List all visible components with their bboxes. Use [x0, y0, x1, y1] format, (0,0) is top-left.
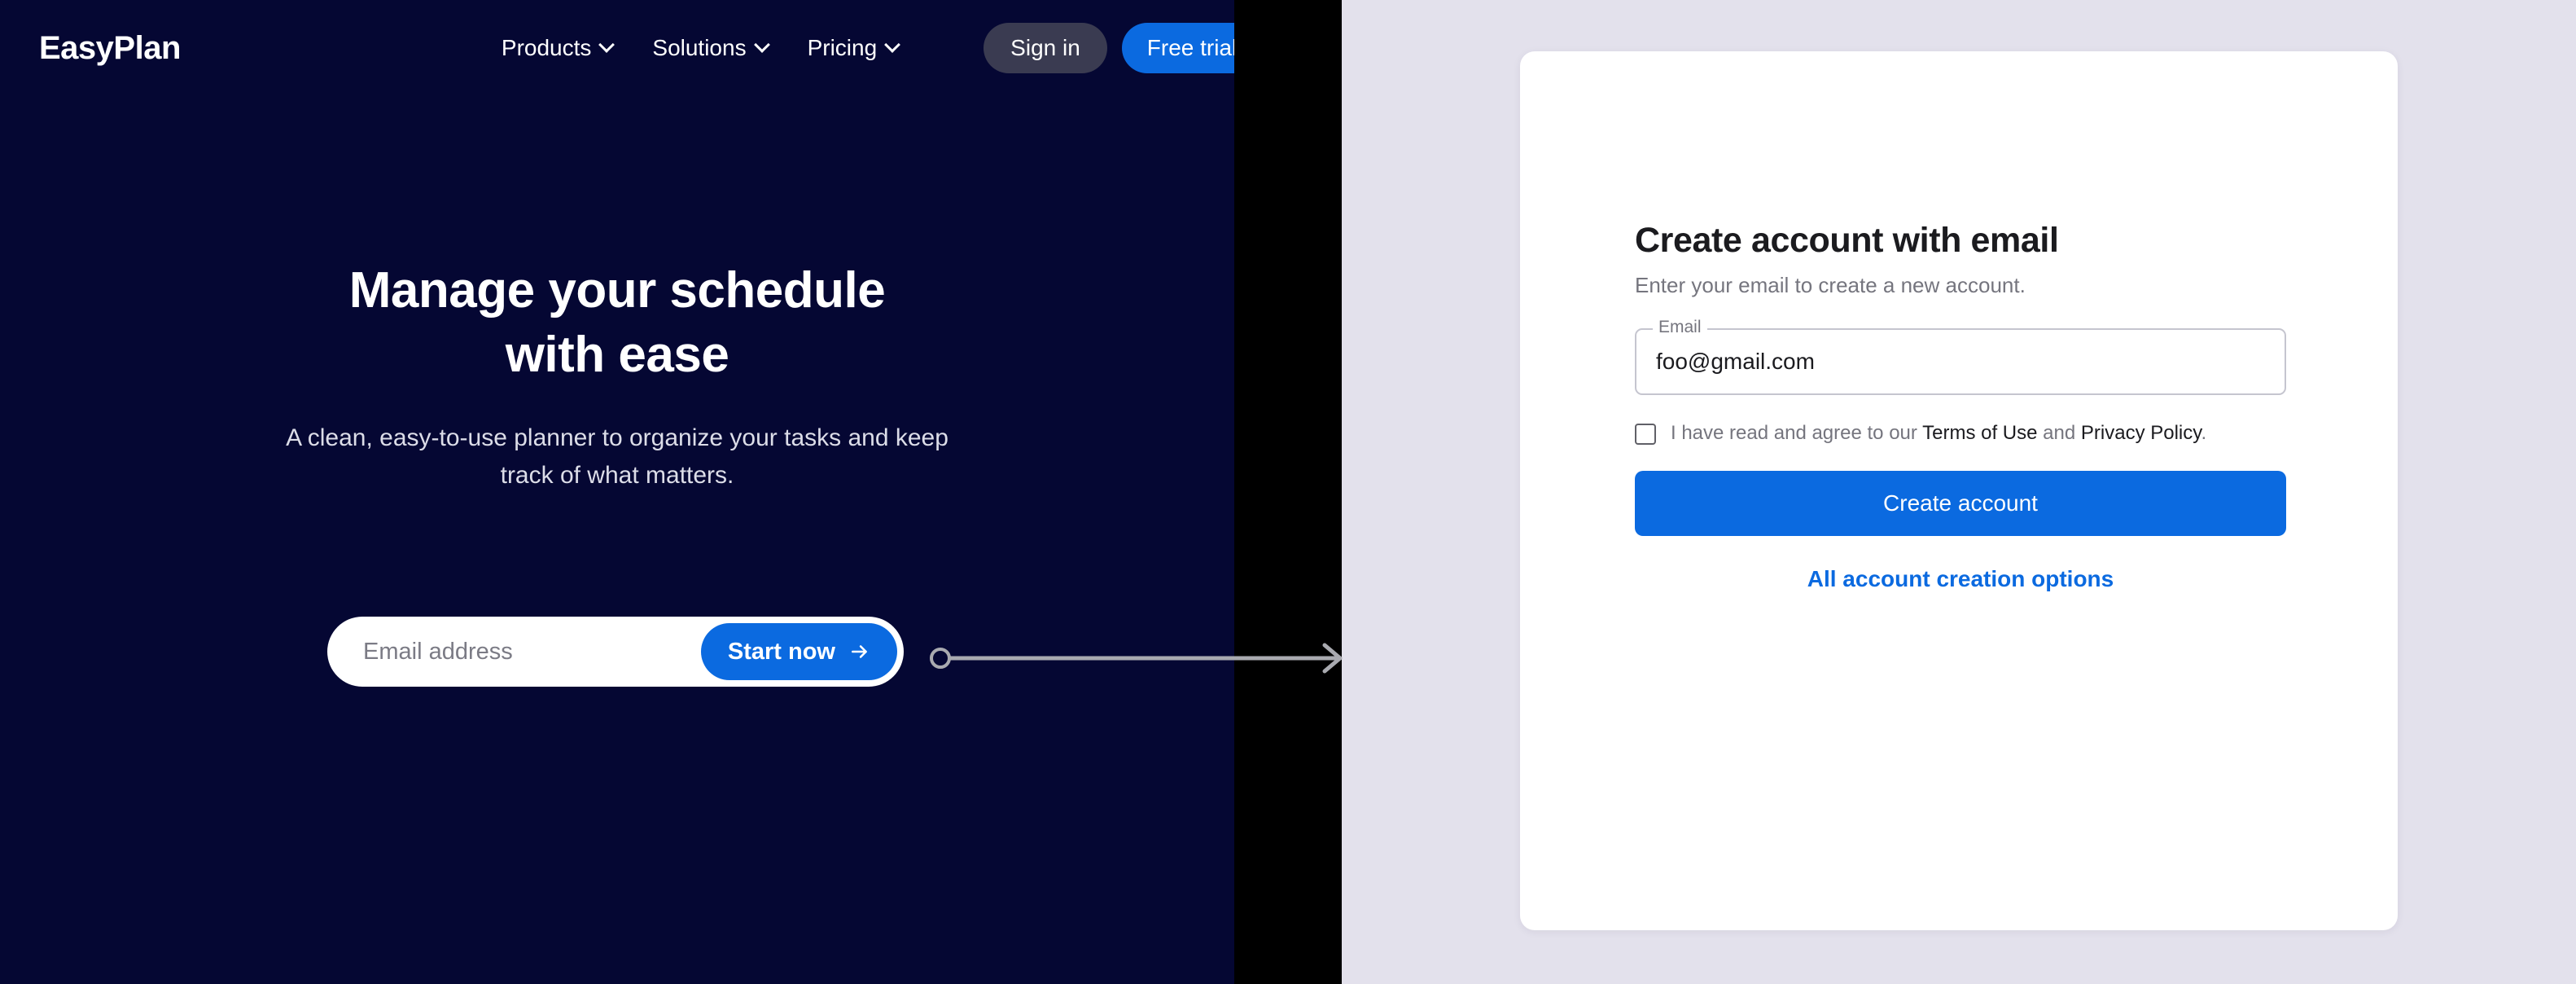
consent-prefix: I have read and agree to our: [1671, 422, 1922, 444]
nav-item-solutions-label: Solutions: [652, 35, 746, 61]
auth-subtitle: Enter your email to create a new account…: [1635, 272, 2286, 300]
all-account-creation-options-button[interactable]: All account creation options: [1635, 560, 2286, 599]
nav-item-products-label: Products: [502, 35, 592, 61]
consent-middle: and: [2038, 422, 2081, 444]
auth-title: Create account with email: [1635, 221, 2286, 261]
brand-logo[interactable]: EasyPlan: [39, 32, 181, 64]
sign-in-button[interactable]: Sign in: [984, 23, 1107, 73]
auth-card-body: Create account with email Enter your ema…: [1635, 221, 2286, 599]
consent-text: I have read and agree to our Terms of Us…: [1671, 422, 2206, 446]
nav-item-solutions[interactable]: Solutions: [633, 27, 787, 69]
nav-item-pricing-label: Pricing: [808, 35, 878, 61]
nav-item-products[interactable]: Products: [482, 27, 633, 69]
hero-email-input[interactable]: [363, 617, 701, 687]
top-navigation-bar: EasyPlan Products Solutions Pricing Sign…: [0, 0, 1234, 96]
chevron-down-icon: [600, 39, 613, 52]
create-account-button[interactable]: Create account: [1635, 471, 2286, 536]
hero-section: Manage your schedule with ease A clean, …: [0, 259, 1234, 494]
terms-checkbox[interactable]: [1635, 424, 1656, 445]
hero-subtitle: A clean, easy-to-use planner to organize…: [0, 420, 1234, 494]
email-input[interactable]: [1635, 328, 2286, 395]
create-account-card: Create account with email Enter your ema…: [1520, 51, 2398, 930]
hero-title: Manage your schedule with ease: [0, 259, 1234, 387]
auth-panel: Create account with email Enter your ema…: [1342, 0, 2576, 984]
terms-of-use-link[interactable]: Terms of Use: [1922, 422, 2037, 444]
start-now-button[interactable]: Start now: [701, 623, 897, 680]
email-field: Email: [1635, 328, 2286, 395]
chevron-down-icon: [886, 39, 899, 52]
marketing-panel: EasyPlan Products Solutions Pricing Sign…: [0, 0, 1234, 984]
hero-signup-form: Start now: [327, 617, 904, 687]
start-now-label: Start now: [728, 639, 835, 666]
nav-item-pricing[interactable]: Pricing: [788, 27, 919, 69]
privacy-policy-link[interactable]: Privacy Policy: [2081, 422, 2201, 444]
nav-links: Products Solutions Pricing: [482, 27, 918, 69]
chevron-down-icon: [756, 39, 769, 52]
screen: EasyPlan Products Solutions Pricing Sign…: [0, 0, 2576, 984]
free-trial-button[interactable]: Free trial: [1122, 23, 1234, 73]
consent-suffix: .: [2201, 422, 2206, 444]
arrow-right-icon: [849, 641, 870, 662]
consent-row: I have read and agree to our Terms of Us…: [1635, 422, 2286, 446]
nav-actions: Sign in Free trial: [984, 23, 1234, 73]
